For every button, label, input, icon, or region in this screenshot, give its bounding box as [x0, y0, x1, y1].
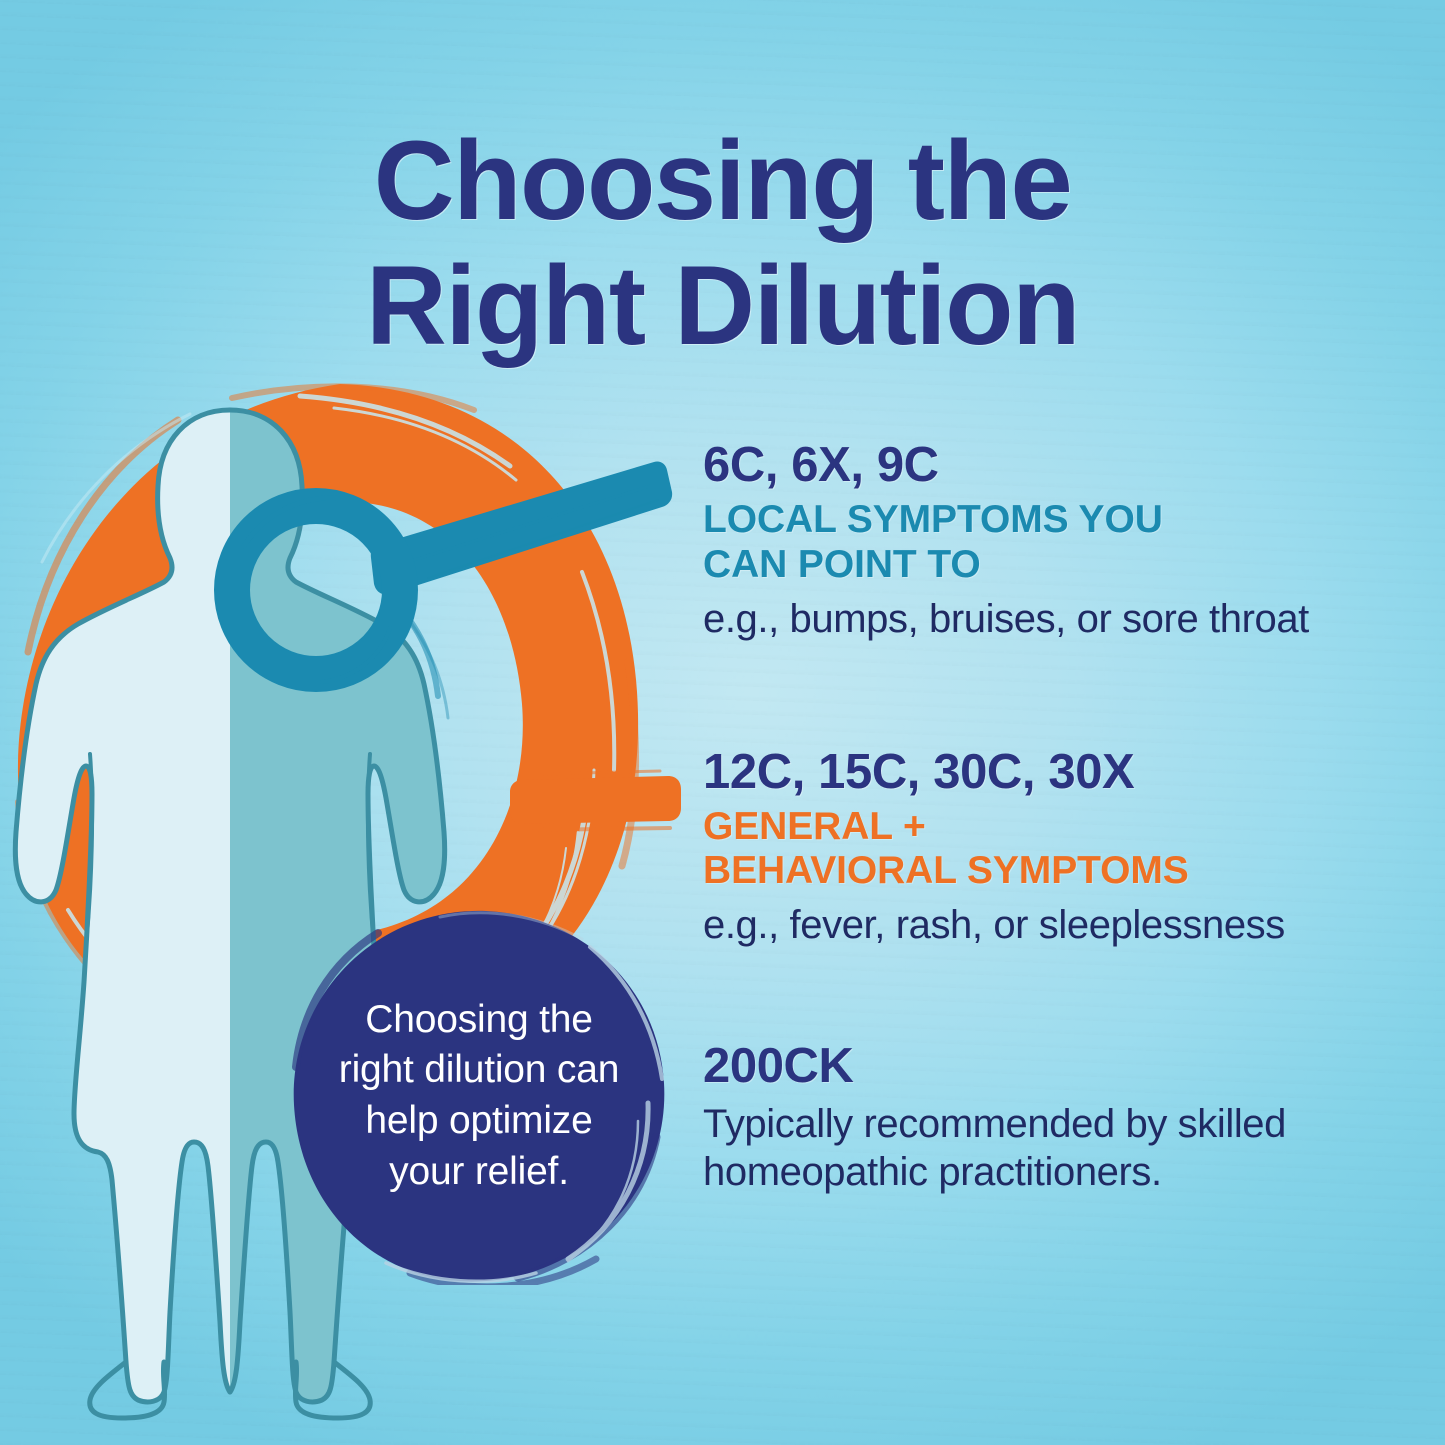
category-line-1b: CAN POINT TO [703, 543, 981, 586]
title-line-1: Choosing the [0, 118, 1445, 243]
page-title: Choosing the Right Dilution [0, 118, 1445, 369]
dilution-entry-2: 12C, 15C, 30C, 30X GENERAL + BEHAVIORAL … [703, 747, 1403, 950]
dilution-entry-3: 200CK Typically recommended by skilled h… [703, 1041, 1403, 1195]
dose-label-3: 200CK [703, 1041, 1403, 1092]
example-text-3: Typically recommended by skilled homeopa… [703, 1100, 1403, 1196]
category-label-2: GENERAL + BEHAVIORAL SYMPTOMS [703, 805, 1403, 893]
dilution-list: 6C, 6X, 9C LOCAL SYMPTOMS YOU CAN POINT … [703, 440, 1403, 1196]
highlight-badge: Choosing the right dilution can help opt… [290, 907, 668, 1285]
badge-text: Choosing the right dilution can help opt… [290, 907, 668, 1285]
category-line-2a: GENERAL + [703, 805, 926, 848]
example-line-3a: Typically recommended by skilled [703, 1102, 1286, 1146]
infographic-poster: Choosing the Right Dilution [0, 0, 1445, 1445]
dilution-entry-1: 6C, 6X, 9C LOCAL SYMPTOMS YOU CAN POINT … [703, 440, 1403, 643]
example-text-1: e.g., bumps, bruises, or sore throat [703, 595, 1403, 643]
category-line-2b: BEHAVIORAL SYMPTOMS [703, 849, 1189, 892]
orange-brush-dash [510, 771, 681, 830]
category-line-1a: LOCAL SYMPTOMS YOU [703, 498, 1163, 541]
dose-label-2: 12C, 15C, 30C, 30X [703, 747, 1403, 798]
example-line-3b: homeopathic practitioners. [703, 1150, 1162, 1194]
category-label-1: LOCAL SYMPTOMS YOU CAN POINT TO [703, 498, 1403, 586]
dose-label-1: 6C, 6X, 9C [703, 440, 1403, 491]
example-text-2: e.g., fever, rash, or sleeplessness [703, 901, 1403, 949]
title-line-2: Right Dilution [0, 243, 1445, 368]
